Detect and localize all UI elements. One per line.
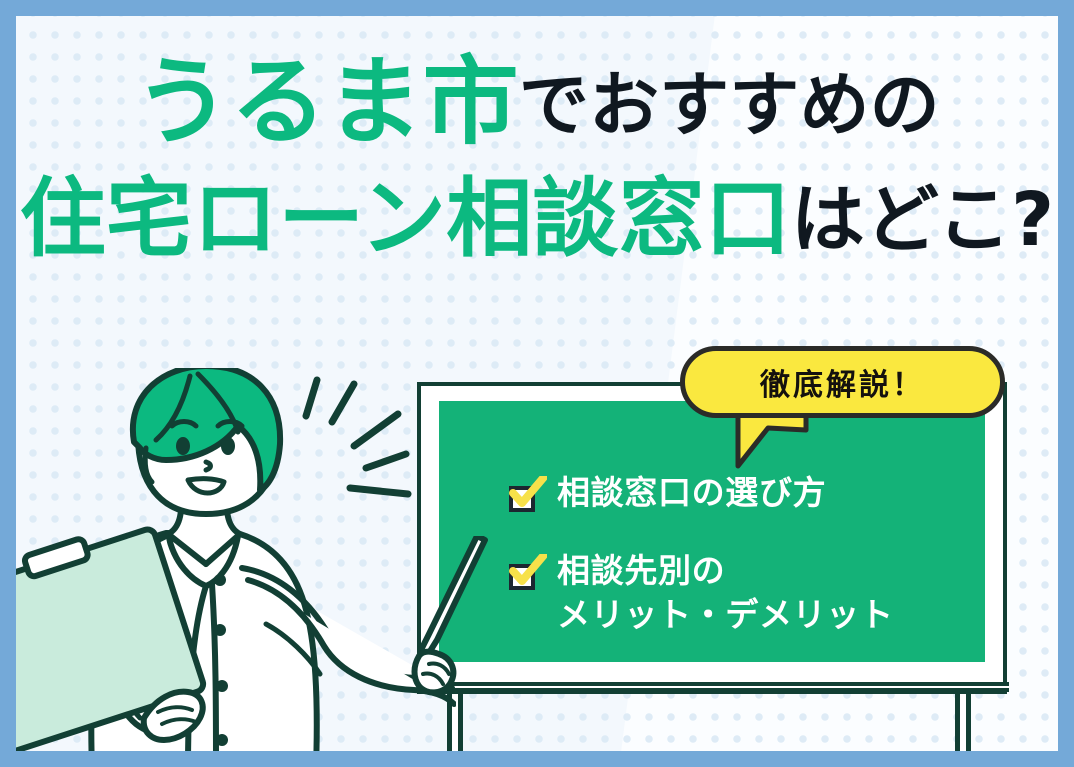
- board-leg-right: [955, 694, 971, 751]
- list-item-label-line-2: メリット・デメリット: [557, 593, 894, 637]
- headline: うるま市でおすすめの 住宅ローン相談窓口はどこ?: [16, 54, 1058, 262]
- inner-canvas: うるま市でおすすめの 住宅ローン相談窓口はどこ?: [16, 16, 1058, 751]
- list-item: 相談先別の メリット・デメリット: [509, 549, 965, 637]
- list-item-label: 相談窓口の選び方: [557, 471, 826, 515]
- headline-line-2: 住宅ローン相談窓口はどこ?: [16, 176, 1058, 262]
- checkbox-checked-icon: [509, 480, 543, 510]
- headline-topic: 住宅ローン相談窓口: [20, 169, 791, 269]
- speech-bubble-label: 徹底解説！: [760, 360, 925, 404]
- headline-line-2-suffix: はどこ?: [791, 177, 1054, 263]
- headline-line-1-suffix: でおすすめの: [519, 64, 940, 146]
- presenter-illustration: [16, 368, 456, 751]
- board-bullet-list: 相談窓口の選び方 相談先別の メリット・デメリット: [509, 471, 965, 671]
- headline-city-name: うるま市: [134, 46, 519, 158]
- list-item-label-line-1: 相談先別の: [557, 549, 894, 593]
- headline-line-1: うるま市でおすすめの: [16, 54, 1058, 150]
- list-item-label-group: 相談先別の メリット・デメリット: [557, 549, 894, 637]
- list-item: 相談窓口の選び方: [509, 471, 965, 515]
- pointer-stick: [411, 536, 521, 696]
- thumbnail-canvas: うるま市でおすすめの 住宅ローン相談窓口はどこ?: [0, 0, 1074, 767]
- speech-bubble: 徹底解説！: [680, 346, 1005, 418]
